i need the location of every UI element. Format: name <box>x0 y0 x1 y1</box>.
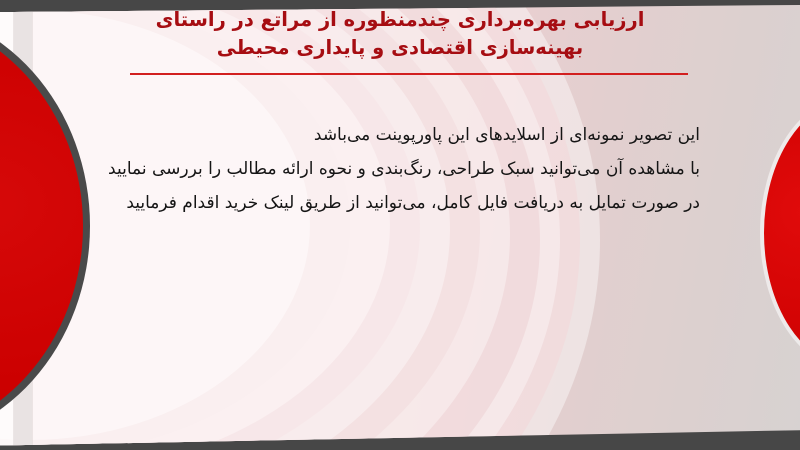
body-line-3: در صورت تمایل به دریافت فایل کامل، می‌تو… <box>100 186 700 220</box>
slide-content: ارزیابی بهره‌برداری چندمنظوره از مراتع د… <box>0 0 800 450</box>
body-line-2: با مشاهده آن می‌توانید سبک طراحی، رنگ‌بن… <box>100 152 700 186</box>
body-line-1: این تصویر نمونه‌ای از اسلایدهای این پاور… <box>100 118 700 152</box>
slide-title: ارزیابی بهره‌برداری چندمنظوره از مراتع د… <box>112 6 688 62</box>
slide-title-line-1: ارزیابی بهره‌برداری چندمنظوره از مراتع د… <box>112 6 688 34</box>
slide-title-line-2: بهینه‌سازی اقتصادی و پایداری محیطی <box>112 34 688 62</box>
title-underline-rule <box>130 73 688 75</box>
slide-body-text: این تصویر نمونه‌ای از اسلایدهای این پاور… <box>100 118 700 220</box>
slide-canvas: ارزیابی بهره‌برداری چندمنظوره از مراتع د… <box>0 0 800 450</box>
